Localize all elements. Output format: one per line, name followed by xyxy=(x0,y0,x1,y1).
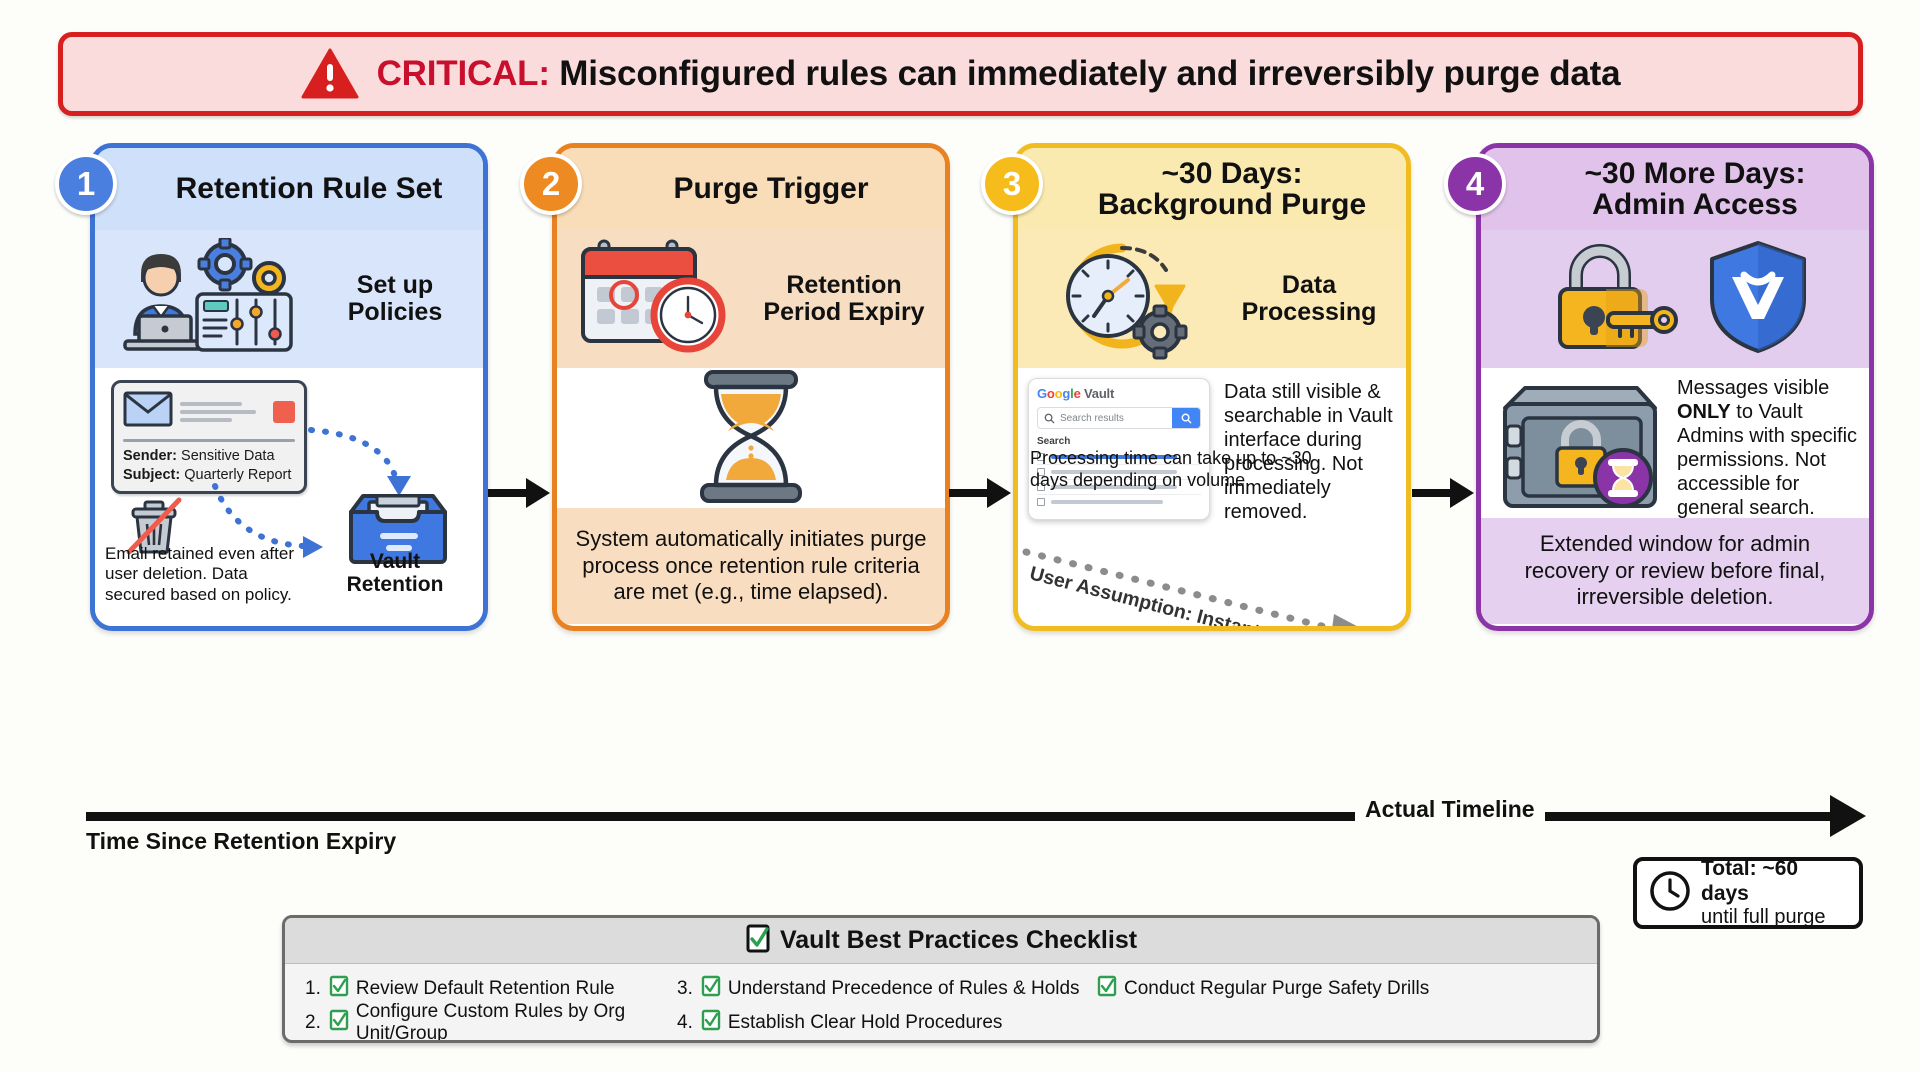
panel-3-hero: Data Processing xyxy=(1018,230,1406,368)
panel-1-header: Retention Rule Set xyxy=(95,148,483,230)
timeline-right-label: Actual Timeline xyxy=(1355,796,1545,823)
panel-4-body: Messages visible ONLY to Vault Admins wi… xyxy=(1481,368,1869,518)
warning-triangle-icon xyxy=(301,48,359,100)
step-badge-4: 4 xyxy=(1444,153,1506,215)
checklist-title: Vault Best Practices Checklist xyxy=(780,926,1137,955)
checklist-item-2[interactable]: 2. Configure Custom Rules by Org Unit/Gr… xyxy=(305,1001,677,1043)
panel-2-header: Purge Trigger xyxy=(557,148,945,230)
checkbox-checked-icon[interactable] xyxy=(701,1009,721,1037)
checklist-header: Vault Best Practices Checklist xyxy=(285,918,1597,964)
panel-3-caption-bottom: Processing time can take up to ~30 days … xyxy=(1030,448,1330,491)
best-practices-checklist: Vault Best Practices Checklist 1. Review… xyxy=(282,915,1600,1043)
vault-search-placeholder: Search results xyxy=(1060,413,1172,424)
panel-1-title: Retention Rule Set xyxy=(176,173,443,204)
infographic-canvas: CRITICAL: Misconfigured rules can immedi… xyxy=(0,0,1920,1072)
total-duration-line2: until full purge xyxy=(1701,906,1826,928)
connector-arrow-1-2 xyxy=(488,478,550,508)
panel-1-caption: Email retained even after user deletion.… xyxy=(105,544,310,605)
checklist-row: 2. Configure Custom Rules by Org Unit/Gr… xyxy=(305,1006,1577,1040)
step-badge-3: 3 xyxy=(981,153,1043,215)
checkbox-checked-icon[interactable] xyxy=(1097,975,1117,1003)
checklist-item-2-label: Configure Custom Rules by Org Unit/Group xyxy=(356,1001,677,1043)
panel-3-title-line2: Background Purge xyxy=(1098,188,1366,221)
checkbox-checked-icon[interactable] xyxy=(329,1009,349,1037)
panel-4-caption-pre: Messages visible xyxy=(1677,377,1829,399)
checklist-item-4-label: Establish Clear Hold Procedures xyxy=(728,1012,1003,1034)
admin-config-icon xyxy=(113,238,309,361)
panel-3-header: ~30 Days: Background Purge xyxy=(1018,148,1406,230)
vault-search-bar[interactable]: Search results xyxy=(1037,407,1201,429)
total-duration-line1: Total: ~60 days xyxy=(1701,857,1798,904)
total-duration-box: Total: ~60 days until full purge xyxy=(1633,857,1863,929)
banner-text: CRITICAL: Misconfigured rules can immedi… xyxy=(377,54,1621,94)
panel-2-title: Purge Trigger xyxy=(673,173,868,204)
vault-section-label: Search xyxy=(1037,436,1201,447)
vault-result-row[interactable] xyxy=(1037,495,1201,509)
timeline-left-label: Time Since Retention Expiry xyxy=(86,828,396,855)
step-badge-1: 1 xyxy=(55,153,117,215)
connector-arrow-2-3 xyxy=(949,478,1011,508)
panel-background-purge[interactable]: ~30 Days: Background Purge xyxy=(1013,143,1411,631)
google-vault-logo: Google Vault xyxy=(1037,386,1201,401)
panel-admin-access[interactable]: ~30 More Days: Admin Access xyxy=(1476,143,1874,631)
panel-3-title-line1: ~30 Days: xyxy=(1162,157,1303,190)
panel-4-caption: Messages visible ONLY to Vault Admins wi… xyxy=(1677,376,1861,520)
step-badge-2: 2 xyxy=(520,153,582,215)
checklist-item-3-number: 3. xyxy=(677,978,693,1000)
checklist-item-1-number: 1. xyxy=(305,978,321,1000)
panel-purge-trigger[interactable]: Purge Trigger xyxy=(552,143,950,631)
panel-4-title-line1: ~30 More Days: xyxy=(1585,157,1806,190)
search-icon xyxy=(1038,413,1060,424)
row-bar xyxy=(1051,500,1163,504)
row-checkbox[interactable] xyxy=(1037,498,1045,506)
checklist-item-5-label: Conduct Regular Purge Safety Drills xyxy=(1124,978,1429,1000)
panel-2-footer: System automatically initiates purge pro… xyxy=(557,508,945,624)
timeline-arrowhead xyxy=(1830,795,1866,837)
checklist-item-1[interactable]: 1. Review Default Retention Rule xyxy=(305,975,677,1003)
user-assumption-annotation: User Assumption: Instant Deletion xyxy=(1018,518,1406,628)
checklist-item-3-label: Understand Precedence of Rules & Holds xyxy=(728,978,1080,1000)
checklist-item-1-label: Review Default Retention Rule xyxy=(356,978,615,1000)
calendar-clock-icon xyxy=(575,235,745,364)
total-duration-text: Total: ~60 days until full purge xyxy=(1701,857,1847,928)
vault-search-button[interactable] xyxy=(1172,408,1200,428)
checkbox-checked-icon xyxy=(745,923,771,958)
panel-3-hero-label: Data Processing xyxy=(1224,272,1394,326)
panel-retention-rule-set[interactable]: Retention Rule Set xyxy=(90,143,488,631)
checklist-item-5[interactable]: Conduct Regular Purge Safety Drills xyxy=(1097,975,1429,1003)
clock-icon xyxy=(1649,870,1691,917)
panel-4-title: ~30 More Days: Admin Access xyxy=(1585,158,1806,220)
vault-retention-label: Vault Retention xyxy=(325,550,465,596)
hourglass-icon xyxy=(692,368,810,509)
checkbox-checked-icon[interactable] xyxy=(329,975,349,1003)
panel-2-hero: Retention Period Expiry xyxy=(557,230,945,368)
padlock-key-icon xyxy=(1546,237,1678,362)
panel-3-body: Google Vault Search results Search Data … xyxy=(1018,368,1406,626)
panel-4-hero xyxy=(1481,230,1869,368)
checklist-item-4[interactable]: 4. Establish Clear Hold Procedures xyxy=(677,1009,1097,1037)
critical-banner: CRITICAL: Misconfigured rules can immedi… xyxy=(58,32,1863,116)
panel-1-hero-label: Set up Policies xyxy=(319,272,471,326)
clock-gear-processing-icon xyxy=(1036,234,1214,365)
checkbox-checked-icon[interactable] xyxy=(701,975,721,1003)
panel-3-title: ~30 Days: Background Purge xyxy=(1098,158,1366,220)
panel-4-caption-only: ONLY xyxy=(1677,401,1731,423)
panel-2-body xyxy=(557,368,945,508)
banner-critical-label: CRITICAL: xyxy=(377,54,550,93)
panel-1-body: Sender: Sensitive Data Subject: Quarterl… xyxy=(95,368,483,626)
checklist-body: 1. Review Default Retention Rule 3. Unde… xyxy=(285,964,1597,1040)
panel-4-title-line2: Admin Access xyxy=(1592,188,1798,221)
banner-message: Misconfigured rules can immediately and … xyxy=(550,54,1621,93)
safe-vault-hourglass-icon xyxy=(1495,374,1671,517)
panel-2-hero-label: Retention Period Expiry xyxy=(755,272,933,326)
panel-4-header: ~30 More Days: Admin Access xyxy=(1481,148,1869,230)
checklist-item-2-number: 2. xyxy=(305,1012,321,1034)
panel-1-hero: Set up Policies xyxy=(95,230,483,368)
connector-arrow-3-4 xyxy=(1412,478,1474,508)
panel-4-footer: Extended window for admin recovery or re… xyxy=(1481,518,1869,624)
checklist-item-3[interactable]: 3. Understand Precedence of Rules & Hold… xyxy=(677,975,1097,1003)
checklist-item-4-number: 4. xyxy=(677,1012,693,1034)
vault-shield-icon xyxy=(1706,239,1810,360)
timeline-axis xyxy=(86,812,1842,821)
vault-wordmark: Vault xyxy=(1081,386,1114,401)
